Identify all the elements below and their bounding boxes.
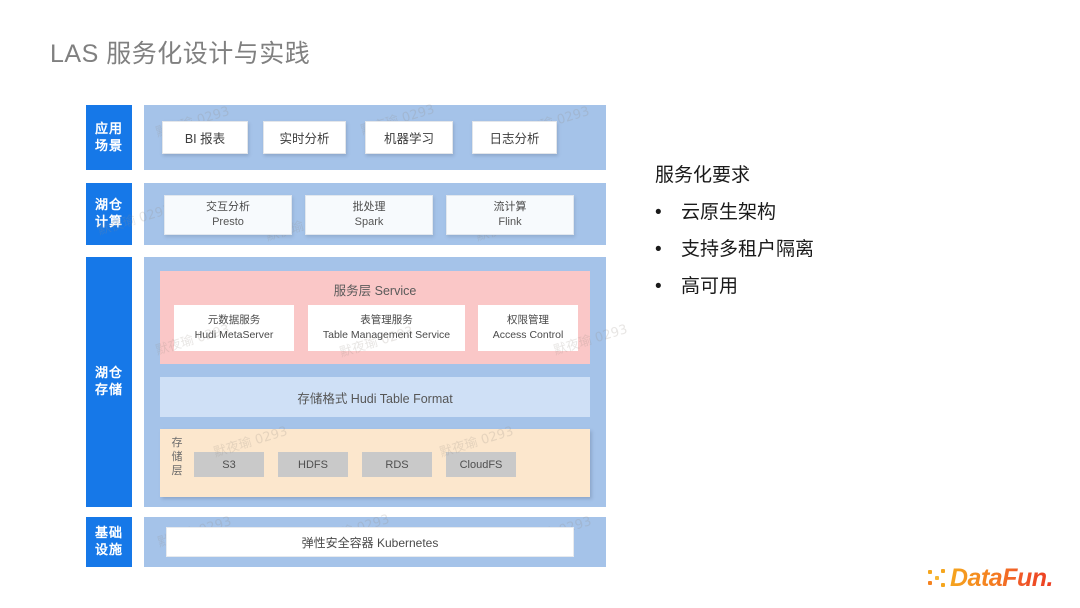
- chip-cloudfs[interactable]: CloudFS: [446, 452, 516, 477]
- logo-dot-icon: [935, 576, 939, 580]
- storage-layer-box: 存储层 S3 HDFS RDS CloudFS 默夜瑜 0293 默夜瑜 029…: [160, 429, 590, 497]
- chip-hdfs[interactable]: HDFS: [278, 452, 348, 477]
- row-infrastructure: 基础 设施 默夜瑜 0293 默夜瑜 0293 默夜瑜 0293 弹性安全容器 …: [86, 517, 606, 567]
- architecture-diagram: 应用 场景 默夜瑜 0293 默夜瑜 0293 默夜瑜 0293 BI 报表 实…: [86, 105, 606, 567]
- band-infrastructure: 默夜瑜 0293 默夜瑜 0293 默夜瑜 0293 弹性安全容器 Kubern…: [144, 517, 606, 567]
- sidebar-label-line2: 设施: [95, 542, 123, 559]
- sidebar-label-line1: 基础: [95, 525, 123, 542]
- chip-rds[interactable]: RDS: [362, 452, 432, 477]
- requirement-cloud-native: 云原生架构: [681, 203, 776, 224]
- row-lakehouse-compute: 湖仓 计算 默夜瑜 0293 默夜瑜 0293 默夜瑜 0293 交互分析 Pr…: [86, 183, 606, 245]
- chip-label-cn: 表管理服务: [360, 313, 413, 328]
- bullet-icon: •: [655, 203, 681, 224]
- sidebar-label-line2: 存储: [95, 382, 123, 399]
- sidebar-label-line1: 湖仓: [95, 365, 123, 382]
- slide-canvas: LAS 服务化设计与实践 应用 场景 默夜瑜 0293 默夜瑜 0293 默夜瑜…: [0, 0, 1080, 608]
- service-layer-title: 服务层 Service: [160, 280, 590, 299]
- sidebar-label-line1: 湖仓: [95, 197, 123, 214]
- page-title: LAS 服务化设计与实践: [50, 34, 310, 70]
- row-application-scenarios: 应用 场景 默夜瑜 0293 默夜瑜 0293 默夜瑜 0293 BI 报表 实…: [86, 105, 606, 170]
- datafun-logo: DataFun.: [928, 566, 1058, 594]
- logo-wordmark: DataFun.: [950, 564, 1053, 593]
- chip-label-cn: 流计算: [494, 200, 527, 215]
- chip-label-cn: 批处理: [353, 200, 386, 215]
- chip-label-en: Presto: [212, 215, 244, 230]
- chip-stream-computing[interactable]: 流计算 Flink: [446, 195, 574, 235]
- chip-label-cn: 权限管理: [507, 313, 549, 328]
- sidebar-label-application-scenarios: 应用 场景: [86, 105, 132, 170]
- logo-dot-icon: [941, 583, 945, 587]
- list-item: • 高可用: [655, 277, 985, 298]
- sidebar-label-lakehouse-storage: 湖仓 存储: [86, 257, 132, 507]
- sidebar-label-line1: 应用: [95, 121, 123, 138]
- service-layer-box: 服务层 Service 元数据服务 Hudi MetaServer 表管理服务 …: [160, 271, 590, 364]
- requirements-heading: 服务化要求: [655, 160, 985, 187]
- chip-log-analysis[interactable]: 日志分析: [472, 121, 557, 154]
- storage-format-box: 存储格式 Hudi Table Format: [160, 377, 590, 417]
- sidebar-label-line2: 计算: [95, 214, 123, 231]
- chip-interactive-analysis[interactable]: 交互分析 Presto: [164, 195, 292, 235]
- logo-dot-icon: [941, 569, 945, 573]
- chip-label-en: Table Management Service: [323, 328, 450, 343]
- list-item: • 支持多租户隔离: [655, 240, 985, 261]
- band-lakehouse-compute: 默夜瑜 0293 默夜瑜 0293 默夜瑜 0293 交互分析 Presto 批…: [144, 183, 606, 245]
- band-lakehouse-storage: 服务层 Service 元数据服务 Hudi MetaServer 表管理服务 …: [144, 257, 606, 507]
- chip-label-cn: 交互分析: [206, 200, 250, 215]
- chip-table-management-service[interactable]: 表管理服务 Table Management Service: [308, 305, 465, 351]
- chip-label-en: Spark: [355, 215, 384, 230]
- list-item: • 云原生架构: [655, 203, 985, 224]
- logo-dot-icon: [928, 570, 932, 574]
- band-application-scenarios: 默夜瑜 0293 默夜瑜 0293 默夜瑜 0293 BI 报表 实时分析 机器…: [144, 105, 606, 170]
- storage-layer-vertical-label: 存储层: [169, 437, 185, 478]
- logo-dot-icon: [928, 581, 932, 585]
- requirements-panel: 服务化要求 • 云原生架构 • 支持多租户隔离 • 高可用: [655, 160, 985, 314]
- bullet-icon: •: [655, 277, 681, 298]
- chip-batch-processing[interactable]: 批处理 Spark: [305, 195, 433, 235]
- requirement-high-availability: 高可用: [681, 277, 738, 298]
- chip-machine-learning[interactable]: 机器学习: [365, 121, 453, 154]
- row-lakehouse-storage: 湖仓 存储 服务层 Service 元数据服务 Hudi MetaServer …: [86, 257, 606, 507]
- chip-metadata-service[interactable]: 元数据服务 Hudi MetaServer: [174, 305, 294, 351]
- chip-realtime-analysis[interactable]: 实时分析: [263, 121, 346, 154]
- chip-label-cn: 元数据服务: [208, 313, 261, 328]
- sidebar-label-line2: 场景: [95, 138, 123, 155]
- chip-kubernetes[interactable]: 弹性安全容器 Kubernetes: [166, 527, 574, 557]
- requirement-multi-tenant-isolation: 支持多租户隔离: [681, 240, 814, 261]
- sidebar-label-infrastructure: 基础 设施: [86, 517, 132, 567]
- bullet-icon: •: [655, 240, 681, 261]
- chip-label-en: Flink: [498, 215, 521, 230]
- chip-bi-report[interactable]: BI 报表: [162, 121, 248, 154]
- chip-s3[interactable]: S3: [194, 452, 264, 477]
- chip-access-control[interactable]: 权限管理 Access Control: [478, 305, 578, 351]
- sidebar-label-lakehouse-compute: 湖仓 计算: [86, 183, 132, 245]
- chip-label-en: Hudi MetaServer: [195, 328, 274, 343]
- chip-label-en: Access Control: [493, 328, 564, 343]
